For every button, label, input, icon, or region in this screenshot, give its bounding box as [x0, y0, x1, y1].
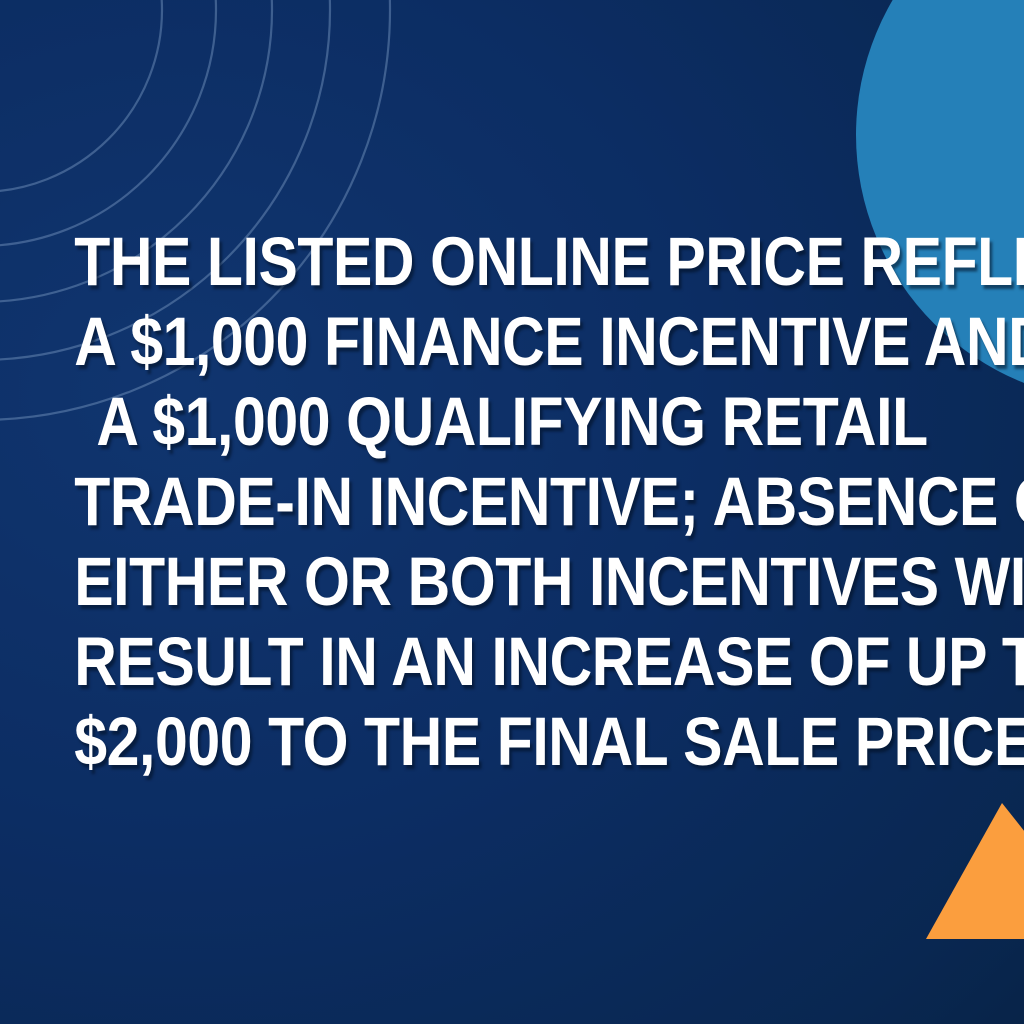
- headline-line-7: $2,000 TO THE FINAL SALE PRICE.: [74, 702, 950, 782]
- headline-line-1: THE LISTED ONLINE PRICE REFLECTS: [74, 222, 950, 302]
- headline-line-4: TRADE-IN INCENTIVE; ABSENCE OF: [74, 462, 950, 542]
- page-title: THE LISTED ONLINE PRICE REFLECTS A $1,00…: [0, 222, 1024, 782]
- graphic-canvas: THE LISTED ONLINE PRICE REFLECTS A $1,00…: [0, 0, 1024, 1024]
- accent-triangle-decoration: [920, 800, 1024, 939]
- headline-line-6: RESULT IN AN INCREASE OF UP TO: [74, 622, 950, 702]
- headline-line-2: A $1,000 FINANCE INCENTIVE AND: [74, 302, 950, 382]
- headline-line-5: EITHER OR BOTH INCENTIVES WILL: [74, 542, 950, 622]
- headline-line-3: A $1,000 QUALIFYING RETAIL: [74, 382, 950, 462]
- triangle-shape: [926, 803, 1024, 939]
